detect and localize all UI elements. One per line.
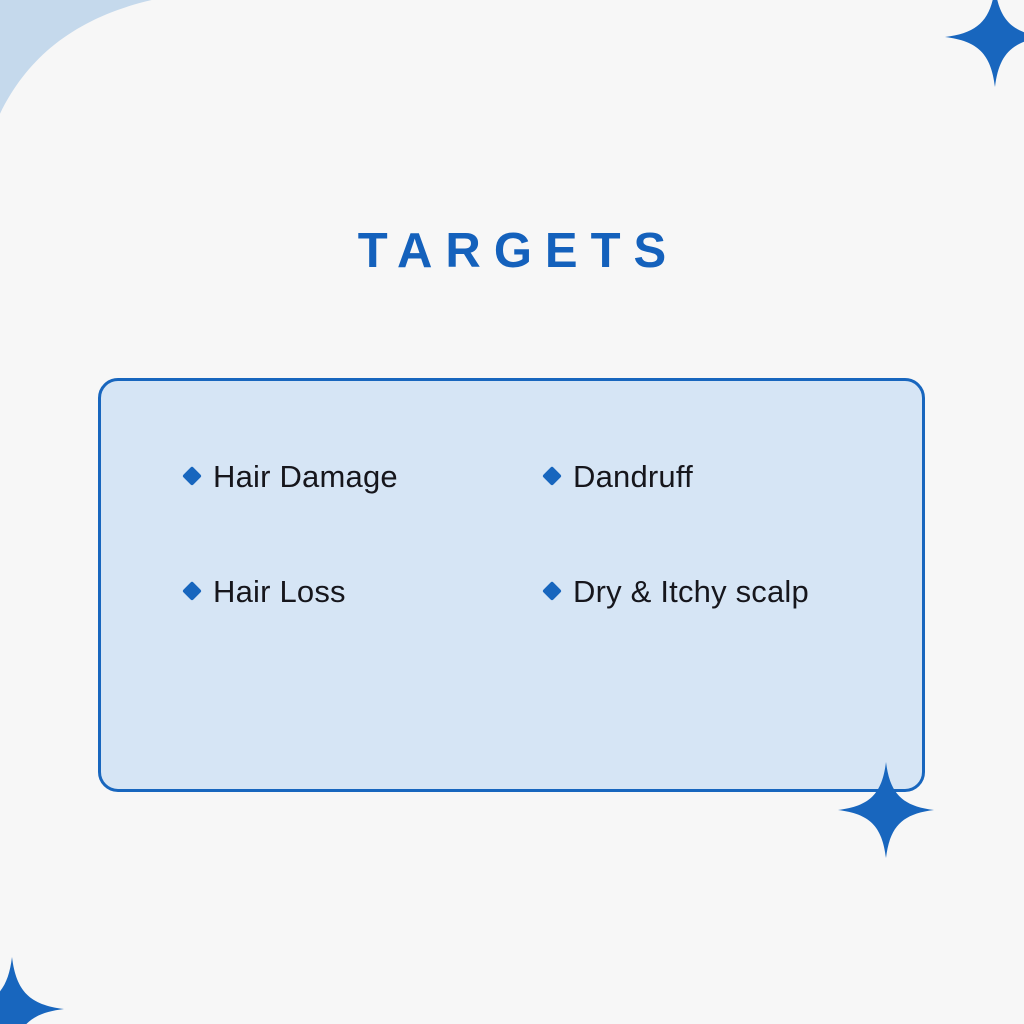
diamond-bullet-icon [542,581,562,601]
list-item-label: Dandruff [573,455,693,498]
list-item-label: Dry & Itchy scalp [573,570,809,613]
list-item-label: Hair Damage [213,455,398,498]
diamond-bullet-icon [182,466,202,486]
diamond-bullet-icon [542,466,562,486]
list-item[interactable]: Hair Damage [185,455,515,498]
targets-list: Hair Damage Dandruff Hair Loss Dry & Itc… [185,455,875,613]
diamond-bullet-icon [182,581,202,601]
list-item[interactable]: Hair Loss [185,570,515,613]
sparkle-icon-top-right [945,0,1024,87]
list-item-label: Hair Loss [213,570,346,613]
targets-card: Hair Damage Dandruff Hair Loss Dry & Itc… [98,378,925,792]
sparkle-icon-bottom-left [0,957,64,1024]
list-item[interactable]: Dandruff [545,455,875,498]
sparkle-icon-top-left [0,0,202,222]
page-title: TARGETS [0,216,1024,286]
list-item[interactable]: Dry & Itchy scalp [545,570,875,613]
targets-slide: TARGETS Hair Damage Dandruff Hair Loss D… [0,0,1024,1024]
